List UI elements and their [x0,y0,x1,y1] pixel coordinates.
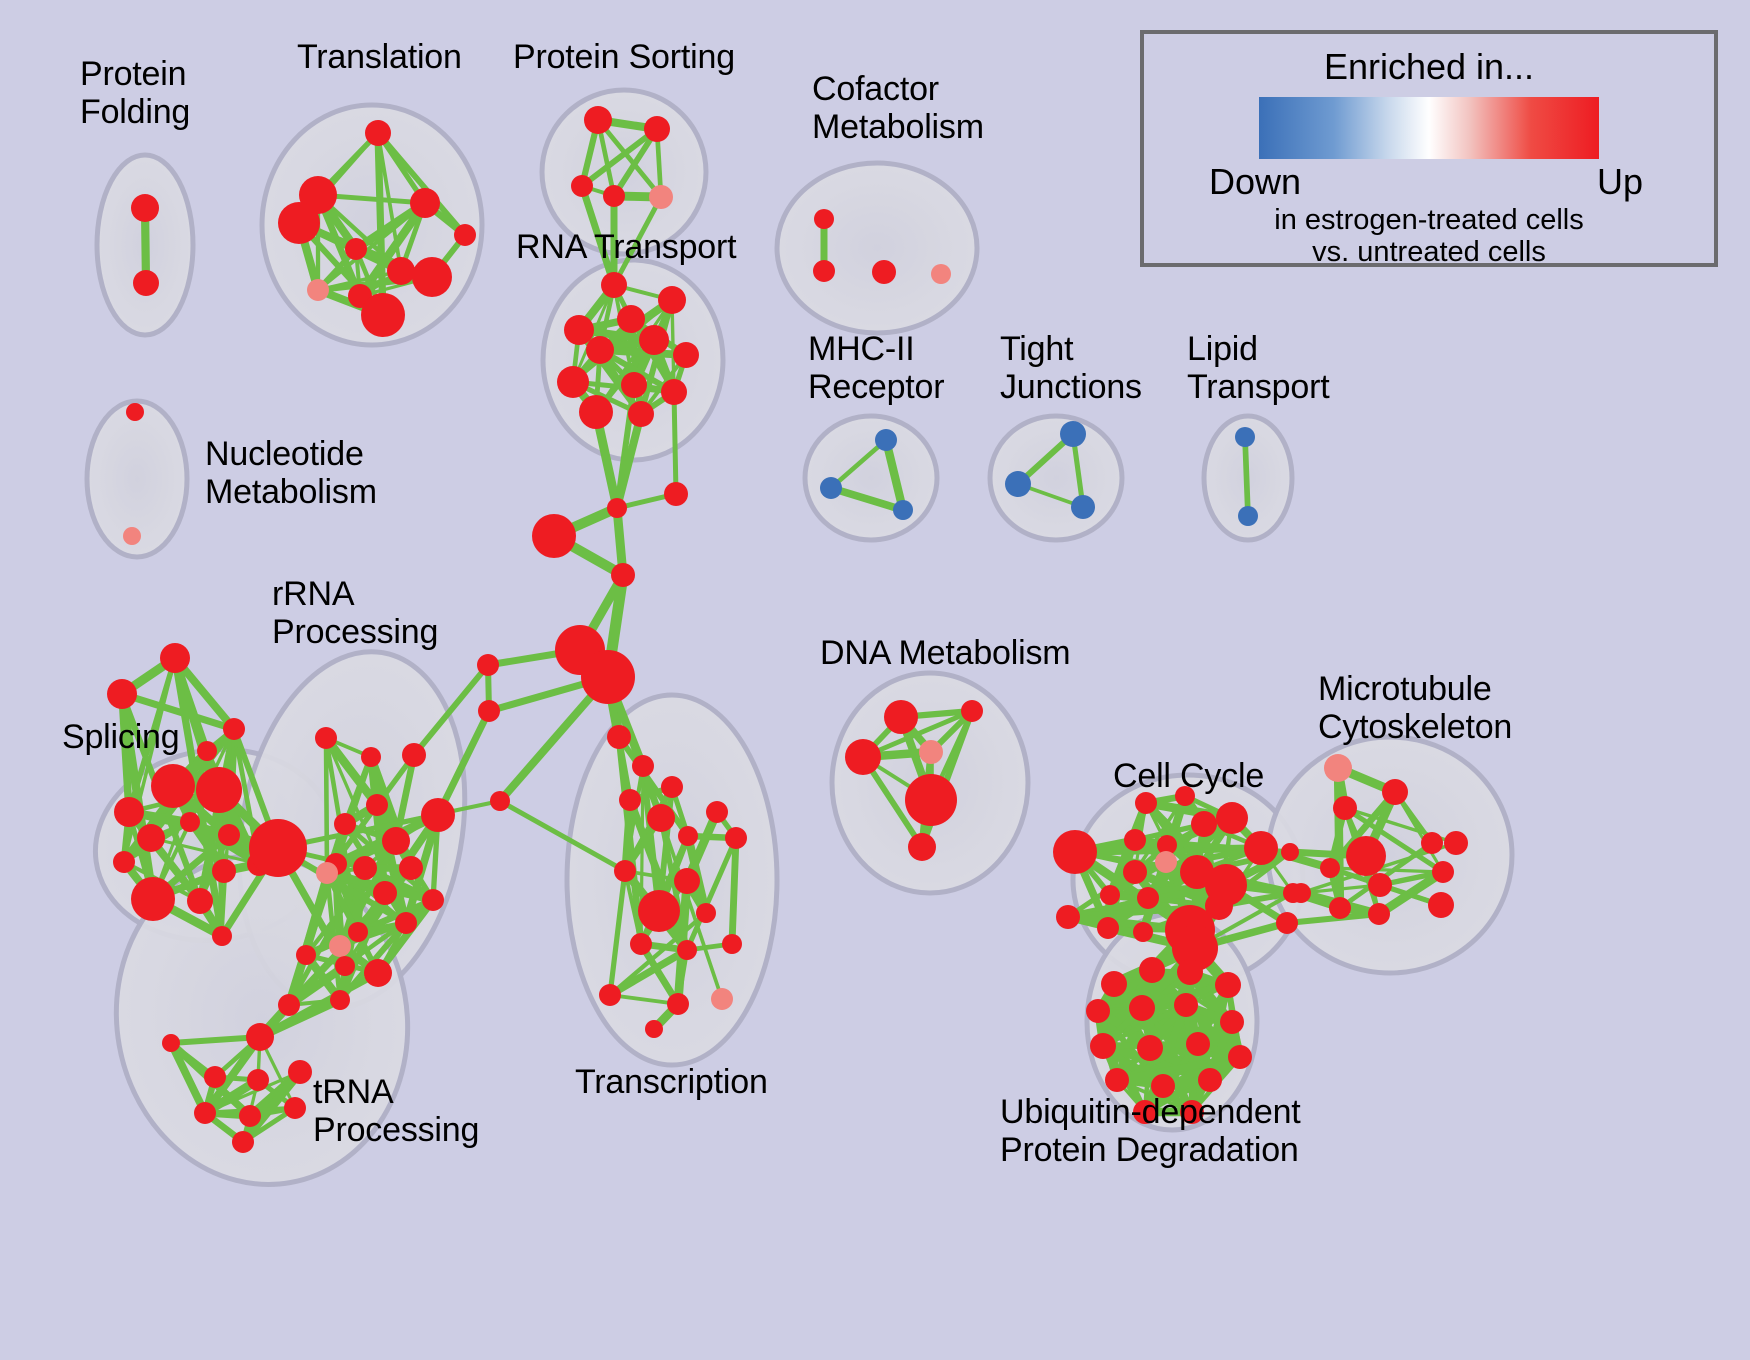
network-node[interactable] [1220,1010,1244,1034]
network-node[interactable] [1129,995,1155,1021]
network-node[interactable] [1198,1068,1222,1092]
network-node[interactable] [664,482,688,506]
cluster-label-line: Junctions [1000,368,1142,406]
cluster-label-line: Cell Cycle [1113,757,1264,795]
network-node[interactable] [1244,831,1278,865]
network-node[interactable] [614,860,636,882]
cluster-label-cofactor-metabolism: CofactorMetabolism [812,70,984,146]
cluster-label-line: Metabolism [205,473,377,511]
network-node[interactable] [674,868,700,894]
cluster-label-line: Splicing [62,718,179,756]
network-node[interactable] [490,791,510,811]
network-node[interactable] [348,922,368,942]
cluster-label-line: tRNA [313,1073,479,1111]
network-node[interactable] [194,1102,216,1124]
network-node[interactable] [607,725,631,749]
network-node[interactable] [722,934,742,954]
network-node[interactable] [1324,754,1352,782]
network-node[interactable] [1097,917,1119,939]
cluster-label-mhc-ii-receptor: MHC-IIReceptor [808,330,944,406]
network-node[interactable] [218,824,240,846]
cluster-label-line: Nucleotide [205,435,377,473]
network-node[interactable] [1174,993,1198,1017]
network-node[interactable] [1137,887,1159,909]
network-node[interactable] [820,477,842,499]
network-node[interactable] [1071,495,1095,519]
network-node[interactable] [638,890,680,932]
network-node[interactable] [232,1131,254,1153]
network-node[interactable] [361,293,405,337]
network-node[interactable] [1291,883,1311,903]
network-node[interactable] [278,994,300,1016]
network-node[interactable] [893,500,913,520]
cluster-label-line: Protein Degradation [1000,1131,1301,1169]
cluster-label-line: Tight [1000,330,1142,368]
network-node[interactable] [532,514,576,558]
network-node[interactable] [1155,851,1177,873]
network-node[interactable] [1123,860,1147,884]
network-node[interactable] [1382,779,1408,805]
network-node[interactable] [345,238,367,260]
cluster-label-line: rRNA [272,575,438,613]
cluster-label-line: Cofactor [812,70,984,108]
cluster-label-trna-processing: tRNAProcessing [313,1073,479,1149]
network-node[interactable] [639,325,669,355]
network-node[interactable] [647,804,675,832]
network-node[interactable] [249,819,307,877]
network-node[interactable] [644,116,670,142]
network-node[interactable] [1060,421,1086,447]
network-node[interactable] [288,1060,312,1084]
network-node[interactable] [1124,829,1146,851]
network-node[interactable] [239,1105,261,1127]
network-node[interactable] [1135,792,1157,814]
network-node[interactable] [603,185,625,207]
network-node[interactable] [1086,999,1110,1023]
network-node[interactable] [1346,836,1386,876]
network-node[interactable] [628,401,654,427]
cluster-ellipse-mhc-ii-receptor [805,416,937,540]
network-node[interactable] [1216,802,1248,834]
network-node[interactable] [1090,1033,1116,1059]
cluster-label-line: Cytoskeleton [1318,708,1512,746]
network-node[interactable] [725,827,747,849]
network-node[interactable] [212,859,236,883]
network-node[interactable] [477,654,499,676]
network-node[interactable] [329,935,351,957]
network-node[interactable] [711,988,733,1010]
network-node[interactable] [187,888,213,914]
network-node[interactable] [661,776,683,798]
cluster-label-tight-junctions: TightJunctions [1000,330,1142,406]
network-node[interactable] [1053,830,1097,874]
cluster-label-line: Transport [1187,368,1329,406]
network-edge [674,392,676,494]
network-node[interactable] [1101,971,1127,997]
network-node[interactable] [706,801,728,823]
network-node[interactable] [875,429,897,451]
network-node[interactable] [284,1097,306,1119]
network-node[interactable] [1056,905,1080,929]
network-node[interactable] [884,700,918,734]
network-node[interactable] [607,498,627,518]
network-node[interactable] [1276,912,1298,934]
network-node[interactable] [619,789,641,811]
network-node[interactable] [296,945,316,965]
network-node[interactable] [113,851,135,873]
legend-subtitle-line-2: vs. untreated cells [1144,235,1714,269]
network-node[interactable] [1421,832,1443,854]
cluster-label-ubiquitin-degradation: Ubiquitin-dependentProtein Degradation [1000,1093,1301,1169]
network-node[interactable] [387,257,415,285]
network-node[interactable] [126,403,144,421]
network-node[interactable] [307,279,329,301]
network-node[interactable] [1186,1032,1210,1056]
cluster-label-splicing: Splicing [62,718,179,756]
network-node[interactable] [133,270,159,296]
network-node[interactable] [931,264,951,284]
network-node[interactable] [421,798,455,832]
network-node[interactable] [1329,897,1351,919]
cluster-label-transcription: Transcription [575,1063,768,1101]
network-edge [326,738,327,873]
network-node[interactable] [1368,873,1392,897]
network-node[interactable] [382,827,410,855]
cluster-label-rrna-processing: rRNAProcessing [272,575,438,651]
network-node[interactable] [1139,957,1165,983]
cluster-label-protein-sorting: Protein Sorting [513,38,735,76]
network-node[interactable] [919,740,943,764]
cluster-label-translation: Translation [297,38,462,76]
network-node[interactable] [1432,861,1454,883]
network-node[interactable] [246,1023,274,1051]
legend-endpoints: Down Up [1209,161,1649,205]
network-node[interactable] [630,933,652,955]
network-node[interactable] [557,366,589,398]
cluster-label-line: Processing [272,613,438,651]
cluster-label-microtubule-cytoskeleton: MicrotubuleCytoskeleton [1318,670,1512,746]
network-node[interactable] [673,342,699,368]
cluster-label-line: Lipid [1187,330,1329,368]
network-node[interactable] [645,1020,663,1038]
network-node[interactable] [366,794,388,816]
network-node[interactable] [601,272,627,298]
network-node[interactable] [247,1069,269,1091]
network-node[interactable] [1235,427,1255,447]
legend-down-label: Down [1209,161,1301,203]
network-node[interactable] [677,940,697,960]
network-node[interactable] [107,679,137,709]
legend-color-gradient-bar [1259,97,1599,159]
network-edge [378,133,383,315]
network-node[interactable] [1215,972,1241,998]
network-node[interactable] [571,175,593,197]
network-node[interactable] [353,856,377,880]
network-edge [1245,437,1248,516]
cluster-label-line: Ubiquitin-dependent [1000,1093,1301,1131]
network-node[interactable] [334,813,356,835]
network-node[interactable] [584,106,612,134]
network-node[interactable] [454,224,476,246]
network-node[interactable] [137,824,165,852]
network-node[interactable] [696,903,716,923]
network-node[interactable] [422,889,444,911]
legend-up-label: Up [1597,161,1643,203]
cluster-label-line: Translation [297,38,462,76]
network-node[interactable] [1444,831,1468,855]
network-node[interactable] [335,956,355,976]
network-node[interactable] [1105,1068,1129,1092]
network-node[interactable] [1333,796,1357,820]
network-node[interactable] [845,739,881,775]
cluster-label-line: Processing [313,1111,479,1149]
network-node[interactable] [661,379,687,405]
network-node[interactable] [151,764,195,808]
network-node[interactable] [1281,843,1299,861]
network-node[interactable] [399,856,423,880]
network-node[interactable] [617,305,645,333]
network-node[interactable] [278,202,320,244]
cluster-label-line: MHC-II [808,330,944,368]
network-node[interactable] [658,286,686,314]
cluster-label-dna-metabolism: DNA Metabolism [820,634,1070,672]
network-node[interactable] [632,755,654,777]
legend-panel: Enriched in... Down Up in estrogen-treat… [1140,30,1718,267]
network-node[interactable] [180,812,200,832]
enrichment-network-figure: ProteinFoldingTranslationProtein Sorting… [0,0,1750,1360]
cluster-label-nucleotide-metabolism: NucleotideMetabolism [205,435,377,511]
network-node[interactable] [1191,811,1217,837]
network-node[interactable] [197,741,217,761]
network-node[interactable] [905,774,957,826]
network-node[interactable] [872,260,896,284]
network-node[interactable] [223,718,245,740]
network-node[interactable] [204,1066,226,1088]
network-node[interactable] [1005,471,1031,497]
network-node[interactable] [162,1034,180,1052]
network-node[interactable] [412,257,452,297]
cluster-label-line: Microtubule [1318,670,1512,708]
legend-title: Enriched in... [1144,46,1714,88]
network-node[interactable] [678,826,698,846]
network-node[interactable] [131,194,159,222]
network-node[interactable] [123,527,141,545]
network-node[interactable] [373,881,397,905]
network-node[interactable] [908,833,936,861]
network-node[interactable] [1137,1035,1163,1061]
network-node[interactable] [1100,885,1120,905]
network-node[interactable] [402,743,426,767]
network-edge [732,838,736,944]
network-node[interactable] [364,959,392,987]
network-node[interactable] [649,185,673,209]
network-node[interactable] [581,650,635,704]
cluster-label-line: DNA Metabolism [820,634,1070,672]
cluster-label-line: Metabolism [812,108,984,146]
cluster-label-line: Receptor [808,368,944,406]
network-node[interactable] [365,120,391,146]
network-node[interactable] [621,372,647,398]
network-node[interactable] [330,990,350,1010]
legend-subtitle-line-1: in estrogen-treated cells [1144,203,1714,237]
network-node[interactable] [961,700,983,722]
cluster-label-rna-transport: RNA Transport [516,228,736,266]
network-node[interactable] [814,209,834,229]
cluster-label-line: Protein Sorting [513,38,735,76]
cluster-label-line: Folding [80,93,190,131]
network-node[interactable] [599,984,621,1006]
network-node[interactable] [395,912,417,934]
cluster-label-line: RNA Transport [516,228,736,266]
network-node[interactable] [315,727,337,749]
network-node[interactable] [1368,903,1390,925]
network-node[interactable] [114,797,144,827]
cluster-ellipse-cofactor-metabolism [777,163,977,333]
network-node[interactable] [196,767,242,813]
network-node[interactable] [160,643,190,673]
network-node[interactable] [1428,892,1454,918]
network-node[interactable] [1238,506,1258,526]
network-node[interactable] [564,315,594,345]
cluster-label-line: Protein [80,55,190,93]
network-node[interactable] [611,563,635,587]
network-node[interactable] [1320,858,1340,878]
network-node[interactable] [579,395,613,429]
network-node[interactable] [361,747,381,767]
network-node[interactable] [1133,922,1153,942]
network-node[interactable] [667,993,689,1015]
network-node[interactable] [1228,1045,1252,1069]
cluster-label-cell-cycle: Cell Cycle [1113,757,1264,795]
network-node[interactable] [586,336,614,364]
network-node[interactable] [131,877,175,921]
network-node[interactable] [212,926,232,946]
network-node[interactable] [813,260,835,282]
cluster-label-lipid-transport: LipidTransport [1187,330,1329,406]
cluster-label-line: Transcription [575,1063,768,1101]
network-node[interactable] [1177,959,1203,985]
cluster-label-protein-folding: ProteinFolding [80,55,190,131]
network-node[interactable] [316,862,338,884]
network-node[interactable] [478,700,500,722]
network-node[interactable] [410,188,440,218]
